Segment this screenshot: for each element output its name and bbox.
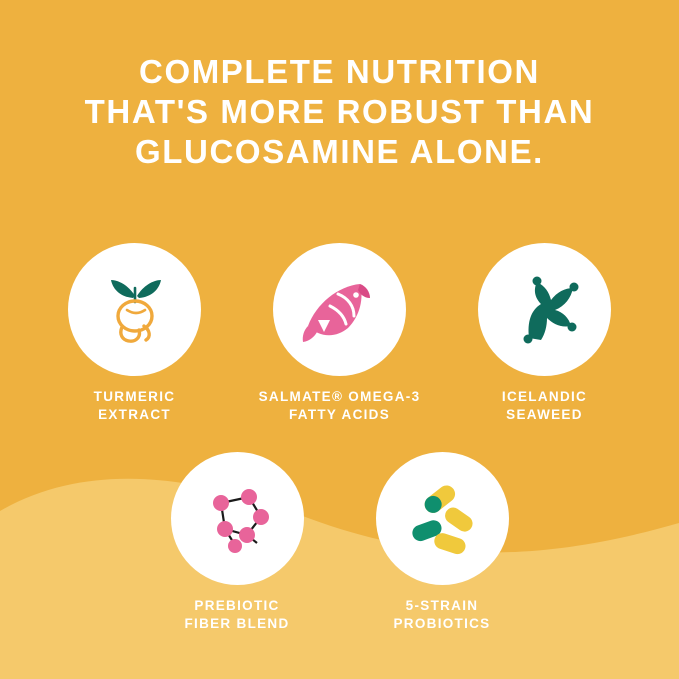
caption-line-1: ICELANDIC (502, 388, 587, 406)
ingredient-icon-circle (68, 243, 201, 376)
ingredient-icelandic-seaweed: ICELANDIC SEAWEED (478, 243, 611, 424)
caption-line-1: PREBIOTIC (184, 597, 289, 615)
ingredient-caption: TURMERIC EXTRACT (94, 388, 176, 424)
caption-line-2: SEAWEED (502, 406, 587, 424)
ingredient-row-top: TURMERIC EXTRACT SALMATE® OMEGA-3 FATTY … (0, 243, 679, 424)
ingredient-5-strain-probiotics: 5-STRAIN PROBIOTICS (376, 452, 509, 633)
page-title: COMPLETE NUTRITION THAT'S MORE ROBUST TH… (0, 52, 679, 172)
ingredient-caption: 5-STRAIN PROBIOTICS (393, 597, 490, 633)
ingredient-salmate-omega-3: SALMATE® OMEGA-3 FATTY ACIDS (273, 243, 406, 424)
headline-line-1: COMPLETE NUTRITION (0, 52, 679, 92)
headline-line-2: THAT'S MORE ROBUST THAN (0, 92, 679, 132)
ingredient-icon-circle (273, 243, 406, 376)
ingredient-icon-circle (171, 452, 304, 585)
caption-line-2: FATTY ACIDS (259, 406, 421, 424)
caption-line-2: EXTRACT (94, 406, 176, 424)
ingredient-row-bottom: PREBIOTIC FIBER BLEND (0, 452, 679, 633)
caption-line-1: TURMERIC (94, 388, 176, 406)
headline-line-3: GLUCOSAMINE ALONE. (0, 132, 679, 172)
seaweed-icon (499, 264, 591, 356)
fish-icon (294, 264, 386, 356)
ingredient-caption: ICELANDIC SEAWEED (502, 388, 587, 424)
ingredient-turmeric-extract: TURMERIC EXTRACT (68, 243, 201, 424)
ingredient-icon-circle (478, 243, 611, 376)
caption-line-2: PROBIOTICS (393, 615, 490, 633)
ingredient-caption: SALMATE® OMEGA-3 FATTY ACIDS (259, 388, 421, 424)
caption-line-1: SALMATE® OMEGA-3 (259, 388, 421, 406)
ingredient-icon-circle (376, 452, 509, 585)
molecule-icon (191, 473, 283, 565)
ingredient-caption: PREBIOTIC FIBER BLEND (184, 597, 289, 633)
caption-line-2: FIBER BLEND (184, 615, 289, 633)
ingredient-prebiotic-fiber-blend: PREBIOTIC FIBER BLEND (171, 452, 304, 633)
promo-graphic: COMPLETE NUTRITION THAT'S MORE ROBUST TH… (0, 0, 679, 679)
turmeric-root-icon (89, 264, 181, 356)
caption-line-1: 5-STRAIN (393, 597, 490, 615)
capsules-icon (396, 473, 488, 565)
caption-text: SALMATE® OMEGA-3 (259, 389, 421, 404)
